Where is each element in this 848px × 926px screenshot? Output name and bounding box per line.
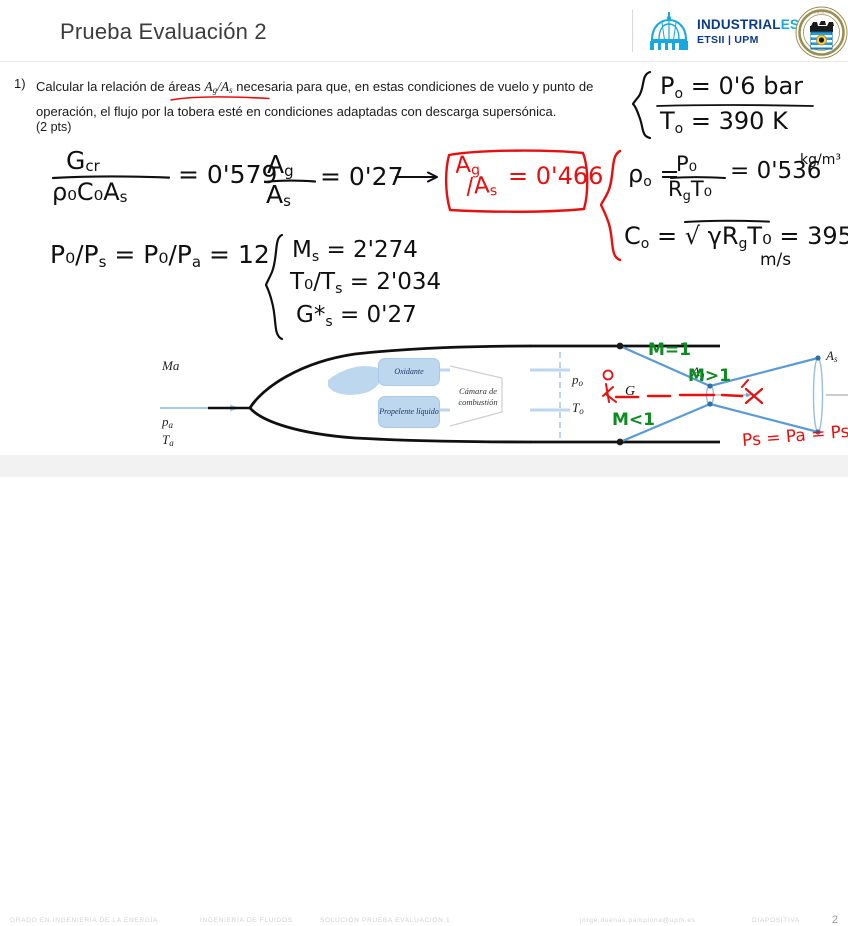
hw-frac-numerator: Gcr: [66, 146, 100, 175]
hw-rho: ρ: [628, 160, 643, 188]
hw-Gs-sub: s: [325, 314, 332, 330]
footer-slide-number: 2: [832, 914, 838, 926]
tank-propelente[interactable]: Propelente líquido: [378, 396, 440, 428]
hw-Ms: M: [292, 237, 312, 263]
logo-wordmark-main: INDUSTRIAL: [697, 17, 781, 32]
throat-A: A: [692, 364, 700, 379]
chamber-line1: Cámara de: [459, 386, 497, 396]
hw-sqrt-gamma-Rg: = √ γR: [657, 222, 739, 250]
logo-wordmark: INDUSTRIALES: [697, 17, 799, 32]
hw-fraction-bar-1: [52, 175, 170, 180]
hw-brace-left-icon: [265, 232, 287, 342]
hw-eq2-value: = 0'27: [320, 162, 403, 191]
hw-given-1: To = 390 K: [660, 107, 788, 137]
hw-Rg-sub: g: [683, 189, 691, 204]
header-divider: [0, 61, 848, 62]
hw-Rg: R: [668, 177, 683, 201]
hw-rho-sub: o: [643, 174, 652, 190]
hw-exit-cond-1: T₀/Ts = 2'034: [290, 269, 441, 297]
exit-A-sub: s: [834, 354, 838, 364]
hw-rho-units: kg/m³: [800, 152, 841, 168]
question-line1-b: necesaria para que, en estas condiciones…: [233, 79, 576, 94]
page-title: Prueba Evaluación 2: [60, 19, 267, 45]
hw-sqrt-vinculum: [684, 219, 770, 224]
hw-box-s: s: [489, 183, 497, 199]
hw-rho-c-A: ρ₀C₀A: [52, 178, 120, 206]
hw-given-separator: [655, 104, 815, 108]
hw-exit-cond-0: Ms = 2'274: [292, 237, 418, 265]
hw-ratio-denominator: As: [266, 180, 291, 210]
tank-propelente-label: Propelente líquido: [379, 407, 438, 417]
hw-arrow-icon: [395, 168, 443, 184]
hw-eq1-value: = 0'579: [178, 160, 277, 189]
question-math-ag-as: Ag/As: [204, 79, 232, 94]
hw-box-A: A: [454, 152, 472, 179]
question-text: Calcular la relación de áreas Ag/As nece…: [36, 76, 632, 123]
hw-ratio-numerator: Ag: [267, 150, 294, 180]
hw-P0-Pa: = P₀/P: [114, 240, 192, 269]
hw-rho-fraction-bar: [670, 176, 726, 180]
slide-footer: GRADO EN INGENIERÍA DE LA ENERGÍA INGENI…: [0, 455, 848, 477]
chamber-temperature-label: To: [572, 400, 584, 416]
chamber-T-sub: o: [579, 406, 584, 416]
logo-divider: [632, 10, 633, 52]
hw-P0-sub: o: [674, 86, 683, 102]
hw-Ms-value: = 2'274: [326, 237, 417, 263]
chamber-pressure-label: po: [572, 372, 583, 388]
inlet-T-sub: a: [169, 438, 174, 448]
hw-Ag-sub: g: [284, 162, 294, 180]
hw-As-A: A: [266, 180, 283, 209]
hw-pressure-ratio: P₀/Ps = P₀/Pa = 12: [50, 240, 270, 271]
throat-area-label: Ag: [692, 364, 704, 380]
question-number: 1): [14, 76, 26, 91]
hw-boxed-denominator: /As: [465, 172, 498, 201]
logo-subtitle: ETSII | UPM: [697, 34, 759, 46]
hw-rho-numerator: P₀: [676, 152, 697, 176]
hw-ratio-value: = 12: [209, 240, 270, 269]
svg-text:VERSIDAD: VERSIDAD: [811, 10, 831, 15]
hw-boxed-value: = 0'466: [508, 162, 603, 190]
footer-slide-label: DIAPOSITIVA: [752, 917, 800, 924]
math-slash-A: /A: [217, 79, 229, 94]
hw-C0-sub: o: [641, 236, 650, 252]
inlet-mach-label: Ma: [162, 358, 179, 374]
hw-c0-units: m/s: [760, 250, 791, 270]
combustion-chamber-label: Cámara de combustión: [453, 386, 503, 408]
hw-c0-symbol: Co = √ γRgT₀ = 395'9: [624, 222, 848, 252]
hw-G-sub: cr: [85, 157, 99, 175]
hw-frac-denominator: ρ₀C₀As: [52, 178, 127, 206]
red-underline-annotation: [170, 95, 270, 102]
dome-icon: [645, 10, 693, 52]
chamber-line2: combustión: [458, 397, 497, 407]
hw-Pa-sub: a: [192, 253, 201, 271]
hw-Ps-sub: s: [99, 253, 107, 271]
hw-As-sub2: s: [283, 192, 291, 210]
hw-Rg-sub2: g: [739, 236, 748, 252]
hw-T0-value: = 390 K: [691, 107, 788, 135]
hw-Ms-sub: s: [312, 249, 319, 265]
hw-T0: T: [660, 107, 675, 135]
footer-course: INGENIERÍA DE FLUIDOS: [200, 917, 293, 924]
inlet-temperature-label: Ta: [162, 432, 174, 448]
hw-P0: P: [660, 72, 674, 100]
tank-oxidante-label: Oxidante: [394, 367, 423, 377]
hw-P0-Ps: P₀/P: [50, 240, 99, 269]
hw-brace-given-icon: [632, 70, 654, 140]
inlet-p-sub: a: [169, 420, 174, 430]
question-points: (2 pts): [36, 120, 71, 134]
rocket-nozzle-diagram: Ma pa Ta Oxidante Propelente líquido Cám…: [150, 338, 848, 456]
chamber-p-sub: o: [579, 378, 584, 388]
footer-degree: GRADO EN INGENIERÍA DE LA ENERGÍA: [10, 917, 158, 924]
hw-box-g: g: [471, 162, 481, 179]
footer-document: SOLUCIÓN PRUEBA EVALUACIÓN 1: [320, 917, 450, 924]
hw-rho-denominator: RgT₀: [668, 177, 712, 204]
hw-fraction-bar-2: [264, 179, 316, 184]
hw-Gs-star: G*: [296, 302, 325, 328]
industriales-logo: INDUSTRIALES ETSII | UPM: [645, 8, 790, 54]
hw-rho-symbol: ρo =: [628, 160, 680, 190]
inlet-pressure-label: pa: [162, 414, 173, 430]
hw-brace-red-icon: [600, 148, 624, 263]
exit-A: A: [826, 348, 834, 363]
hw-rho-value: = 0'536: [730, 158, 821, 184]
hw-boxed-numerator: Ag: [454, 151, 480, 180]
hw-Gs-value: = 0'27: [340, 302, 417, 328]
footer-email: jorge.duenas.pamplona@upm.es: [580, 917, 695, 924]
hw-T0Ts: T₀/T: [290, 269, 335, 295]
hw-result-box: [443, 147, 591, 215]
hw-Ag-A: A: [267, 150, 284, 179]
hw-T0-sub: o: [675, 121, 684, 137]
math-A: A: [204, 79, 212, 94]
hw-P0-value: = 0'6 bar: [691, 72, 803, 100]
throat-A-sub: g: [700, 370, 705, 380]
hw-given-0: Po = 0'6 bar: [660, 72, 803, 102]
hw-box-A2: A: [473, 172, 491, 199]
slide-canvas: Prueba Evaluación 2 INDUSTRIALES ETSII |…: [0, 0, 848, 477]
hw-T0-den: T₀: [691, 177, 712, 201]
hw-T0Ts-value: = 2'034: [350, 269, 441, 295]
question-line1-a: Calcular la relación de áreas: [36, 79, 204, 94]
hw-T0-sqrt: T₀: [747, 222, 771, 250]
hw-C0-value: = 395'9: [779, 222, 848, 250]
slide-header: Prueba Evaluación 2 INDUSTRIALES ETSII |…: [0, 0, 848, 62]
hw-As-sub: s: [120, 188, 128, 206]
hw-exit-cond-2: G*s = 0'27: [296, 302, 417, 330]
hw-rho-eq: =: [659, 160, 679, 188]
tank-oxidante[interactable]: Oxidante: [378, 358, 440, 386]
hw-Ts-sub: s: [335, 281, 342, 297]
hw-C0: C: [624, 222, 641, 250]
hw-G: G: [66, 146, 85, 175]
upm-seal-icon: VERSIDAD: [795, 6, 848, 59]
exit-area-label: As: [826, 348, 837, 364]
